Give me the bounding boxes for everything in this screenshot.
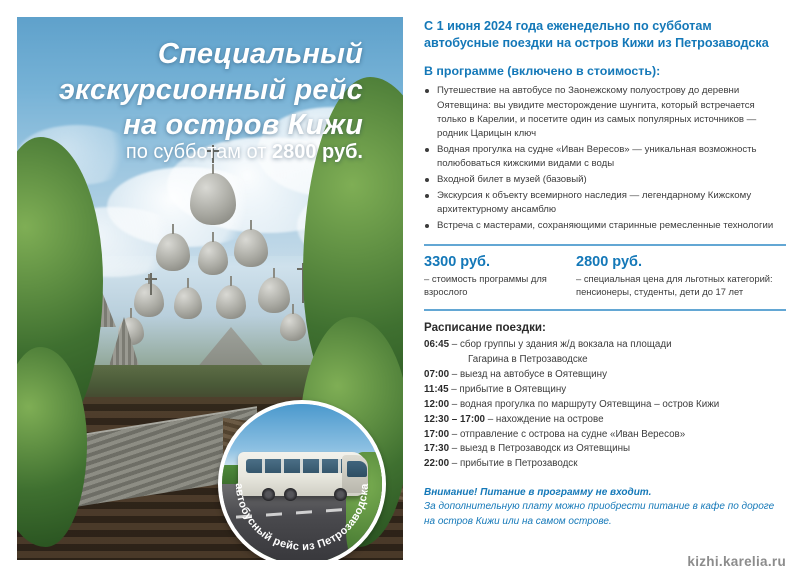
meals-note-bold: Внимание! Питание в программу не входит.	[424, 486, 786, 500]
flyer-page: Специальный экскурсионный рейс на остров…	[0, 0, 800, 577]
price-adult-amount: 3300 руб.	[424, 254, 576, 270]
price-adult: 3300 руб. – стоимость программы для взро…	[424, 254, 576, 298]
badge-curved-label: автобусный рейс из Петрозаводска	[233, 483, 371, 554]
church-dome	[198, 241, 228, 275]
program-title: В программе (включено в стоимость):	[424, 64, 786, 78]
church-dome	[234, 229, 268, 267]
poster-subtitle-prefix: по субботам от	[126, 141, 272, 163]
schedule-text: – выезд в Петрозаводск из Оятевщины	[452, 443, 630, 454]
poster-title-line-3: на остров Кижи	[17, 108, 363, 144]
program-list: Путешествие на автобусе по Заонежскому п…	[424, 84, 786, 233]
schedule-row: 22:00 – прибытие в Петрозаводск	[424, 457, 786, 472]
schedule-row: 17:00 – отправление с острова на судне «…	[424, 428, 786, 443]
poster-subtitle-price: 2800 руб.	[272, 141, 363, 163]
program-item: Экскурсия к объекту всемирного наследия …	[424, 189, 786, 217]
price-block: 3300 руб. – стоимость программы для взро…	[424, 254, 786, 298]
church-dome	[174, 287, 202, 319]
schedule-row: 11:45 – прибытие в Оятевщину	[424, 383, 786, 398]
schedule-time: 17:30	[424, 443, 452, 454]
schedule-time: 22:00	[424, 458, 452, 469]
poster-photo-panel: Специальный экскурсионный рейс на остров…	[17, 17, 403, 560]
church-dome	[216, 285, 246, 319]
schedule-row: 06:45 – сбор группы у здания ж/д вокзала…	[424, 338, 786, 353]
headline-line-2: автобусные поездки на остров Кижи из Пет…	[424, 35, 786, 52]
price-discount: 2800 руб. – специальная цена для льготны…	[576, 254, 786, 298]
divider-bottom	[424, 309, 786, 311]
schedule-time: 12:00	[424, 399, 452, 410]
badge-curved-text: автобусный рейс из Петрозаводска	[222, 404, 382, 560]
program-item: Путешествие на автобусе по Заонежскому п…	[424, 84, 786, 140]
church-dome	[134, 283, 164, 317]
schedule-text: – отправление с острова на судне «Иван В…	[452, 429, 685, 440]
program-item: Водная прогулка на судне «Иван Вересов» …	[424, 143, 786, 171]
website-url: kizhi.karelia.ru	[687, 554, 786, 569]
schedule-row: 12:00 – водная прогулка по маршруту Ояте…	[424, 398, 786, 413]
info-column: С 1 июня 2024 года еженедельно по суббот…	[424, 18, 786, 529]
church-dome	[280, 313, 306, 341]
schedule-time: 17:00	[424, 429, 452, 440]
headline: С 1 июня 2024 года еженедельно по суббот…	[424, 18, 786, 51]
schedule-row: 07:00 – выезд на автобусе в Оятевщину	[424, 368, 786, 383]
meals-note-text: За дополнительную плату можно приобрести…	[424, 500, 786, 528]
schedule-row: 12:30 – 17:00 – нахождение на острове	[424, 413, 786, 428]
church-dome	[156, 233, 190, 271]
schedule-time: 07:00	[424, 369, 452, 380]
meals-note: Внимание! Питание в программу не входит.…	[424, 486, 786, 529]
schedule-text: – сбор группы у здания ж/д вокзала на пл…	[452, 339, 672, 350]
divider-top	[424, 244, 786, 246]
schedule-text: – нахождение на острове	[488, 414, 604, 425]
poster-title-line-1: Специальный	[17, 37, 363, 73]
schedule-title: Расписание поездки:	[424, 321, 786, 334]
program-item: Входной билет в музей (базовый)	[424, 173, 786, 187]
headline-line-1: С 1 июня 2024 года еженедельно по суббот…	[424, 18, 786, 35]
schedule-text: – прибытие в Петрозаводск	[452, 458, 578, 469]
price-discount-description: – специальная цена для льготных категори…	[576, 273, 786, 298]
schedule-time: 11:45	[424, 384, 451, 395]
schedule-text: – выезд на автобусе в Оятевщину	[452, 369, 607, 380]
schedule-list: 06:45 – сбор группы у здания ж/д вокзала…	[424, 338, 786, 472]
poster-subtitle: по субботам от 2800 руб.	[17, 141, 383, 164]
schedule-row: 17:30 – выезд в Петрозаводск из Оятевщин…	[424, 442, 786, 457]
poster-title: Специальный экскурсионный рейс на остров…	[17, 37, 383, 144]
price-adult-description: – стоимость программы для взрослого	[424, 273, 576, 298]
bus-badge: автобусный рейс из Петрозаводска	[218, 400, 386, 560]
schedule-time: 12:30 – 17:00	[424, 414, 488, 425]
price-discount-amount: 2800 руб.	[576, 254, 786, 270]
church-dome	[190, 173, 236, 225]
church-dome	[258, 277, 290, 313]
schedule-text: – прибытие в Оятевщину	[451, 384, 566, 395]
poster-title-line-2: экскурсионный рейс	[17, 73, 363, 109]
program-item: Встреча с мастерами, сохраняющими старин…	[424, 219, 786, 233]
schedule-time: 06:45	[424, 339, 452, 350]
schedule-text: – водная прогулка по маршруту Оятевщина …	[452, 399, 719, 410]
schedule-continuation: Гагарина в Петрозаводске	[424, 353, 786, 368]
church-cross	[150, 273, 152, 295]
